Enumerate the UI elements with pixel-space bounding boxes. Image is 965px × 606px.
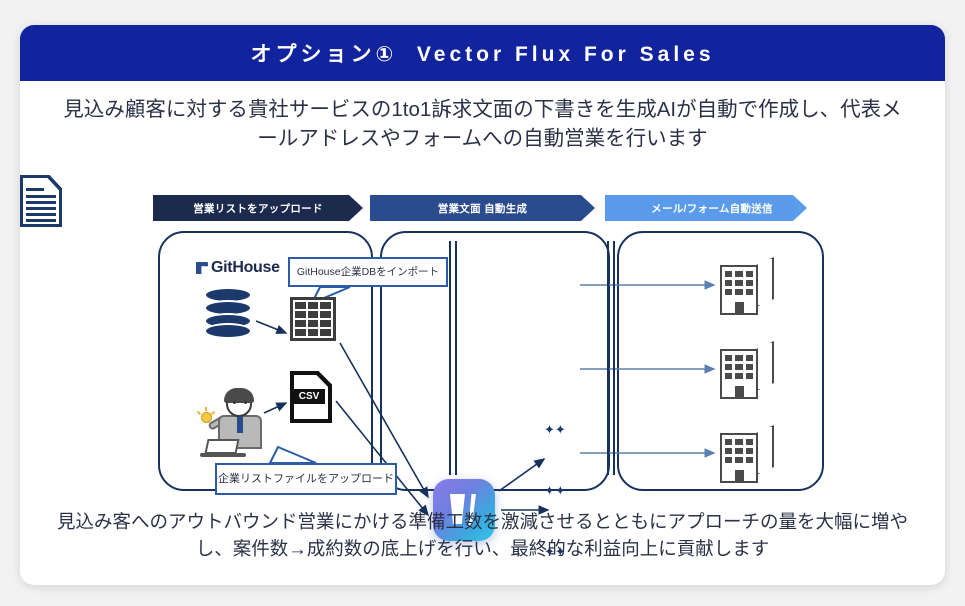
- lede-text: 見込み顧客に対する貴社サービスの1to1訴求文面の下書きを生成AIが自動で作成し…: [54, 95, 911, 153]
- sparkle-icon: ✦✦: [544, 423, 566, 436]
- sparkle-icon: ✦✦: [544, 484, 566, 497]
- csv-file-icon: CSV: [290, 371, 332, 423]
- office-building-icon: [720, 257, 776, 315]
- page-title: オプション① Vector Flux For Sales: [250, 38, 714, 68]
- person-at-laptop-icon: [196, 387, 282, 459]
- database-icon: [204, 287, 252, 339]
- process-diagram: 営業リストをアップロード 営業文面 自動生成 メール/フォーム自動送信: [20, 175, 945, 525]
- step-chevron-1: 営業リストをアップロード: [153, 195, 363, 221]
- githouse-logo: GitHouse: [196, 259, 280, 277]
- csv-badge-label: CSV: [293, 389, 325, 404]
- step-chevron-3: メール/フォーム自動送信: [605, 195, 807, 221]
- githouse-logo-text: GitHouse: [211, 259, 280, 277]
- office-building-icon: [720, 341, 776, 399]
- callout-import-db: GitHouse企業DBをインポート: [288, 257, 448, 287]
- document-sparkle-icon: [20, 175, 62, 227]
- githouse-mark-icon: [196, 262, 208, 274]
- office-building-icon: [720, 425, 776, 483]
- callout-upload-list: 企業リストファイルをアップロード: [215, 463, 397, 495]
- footer-note: 見込み客へのアウトバウンド営業にかける準備工数を激減させるとともにアプローチの量…: [50, 509, 915, 563]
- spreadsheet-icon: [290, 297, 336, 341]
- slide-card: オプション① Vector Flux For Sales 見込み顧客に対する貴社…: [20, 25, 945, 585]
- step-chevron-2: 営業文面 自動生成: [370, 195, 595, 221]
- card-header: オプション① Vector Flux For Sales: [20, 25, 945, 81]
